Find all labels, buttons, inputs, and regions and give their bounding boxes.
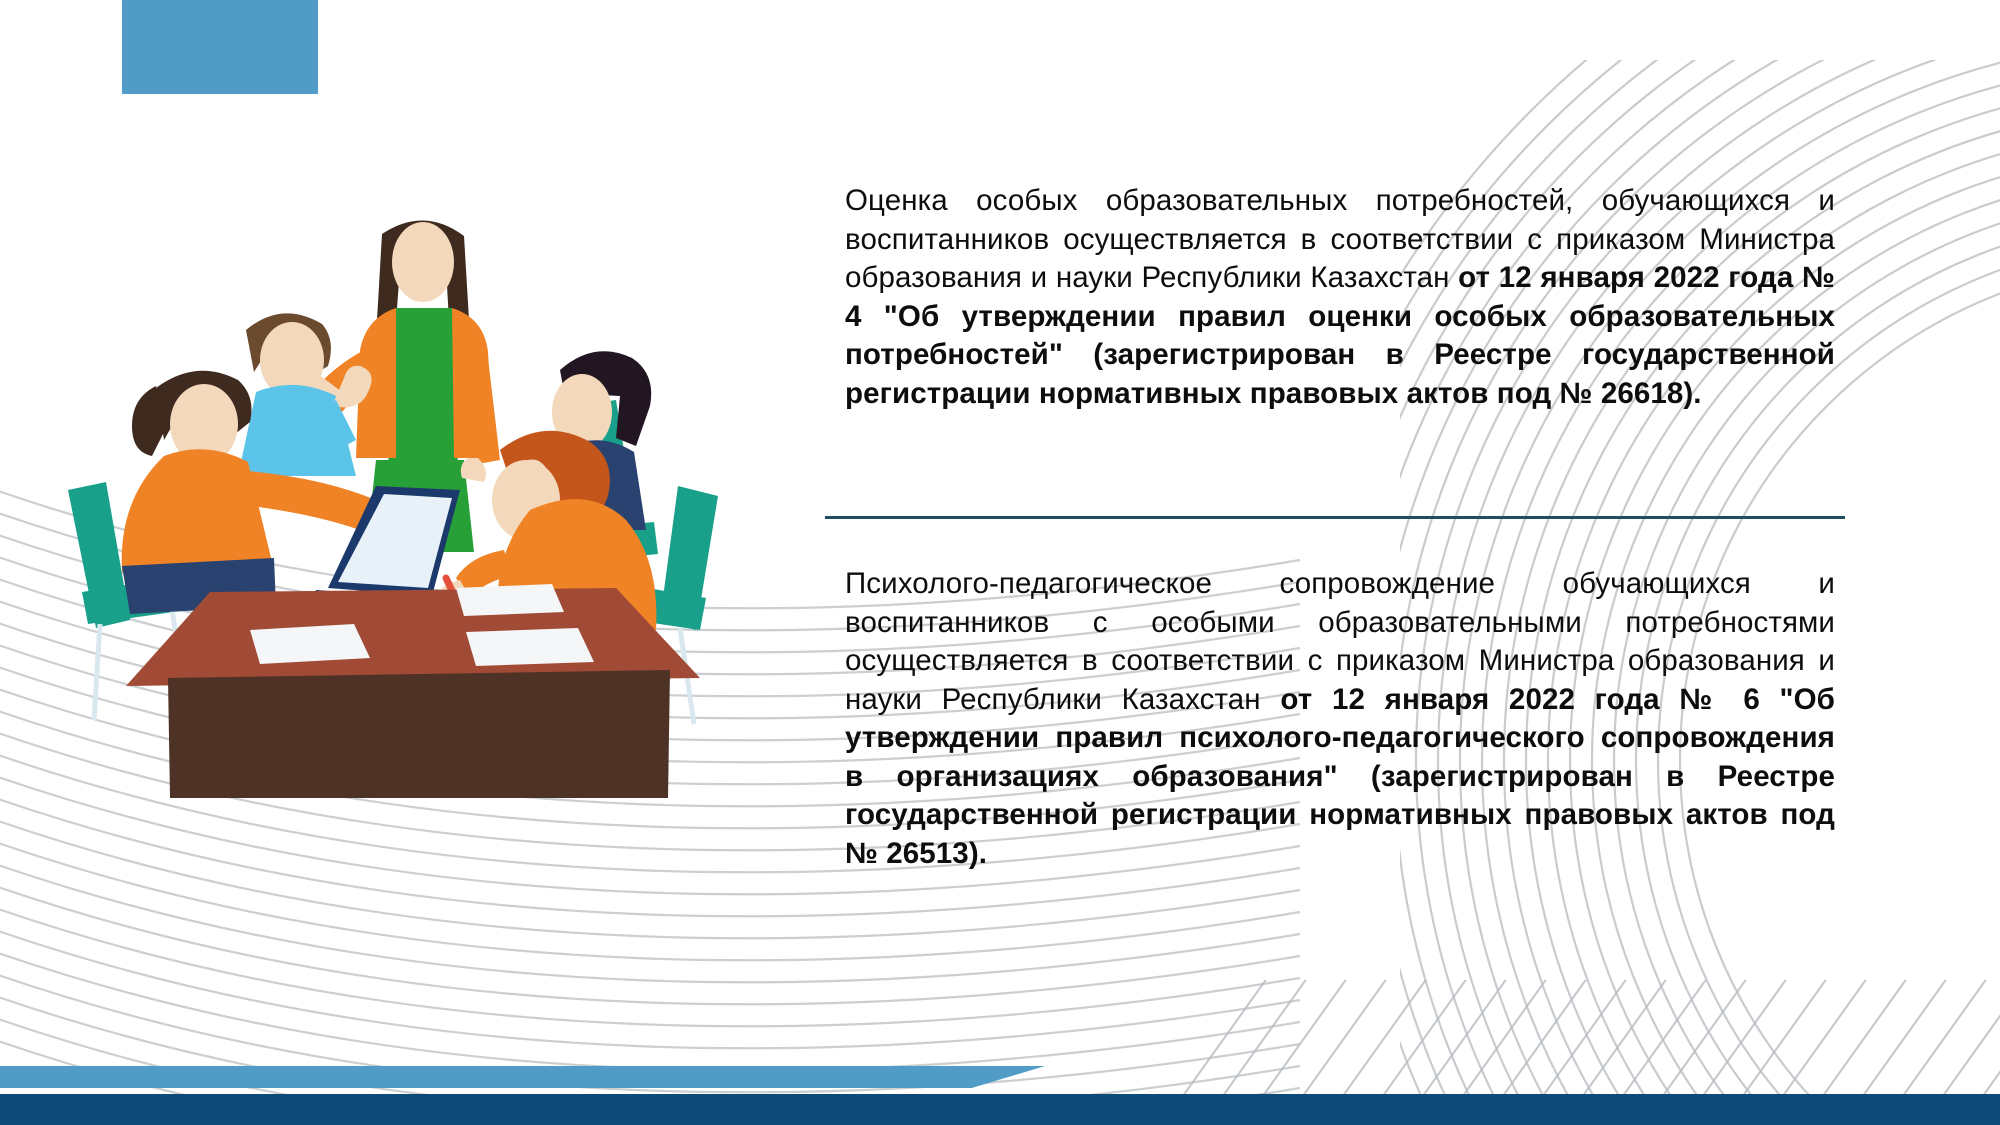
slide-root: Оценка особых образовательных потребност… — [0, 0, 2000, 1125]
paragraph-2-block: Психолого-педагогическое сопровождение о… — [845, 565, 1835, 873]
accent-rectangle — [122, 0, 318, 94]
paragraph-1: Оценка особых образовательных потребност… — [845, 182, 1835, 413]
conference-table — [126, 588, 700, 798]
paper-right-lower — [466, 628, 594, 666]
meeting-illustration — [60, 200, 760, 800]
section-divider — [825, 516, 1845, 519]
paper-right-upper — [456, 584, 564, 616]
paragraph-2: Психолого-педагогическое сопровождение о… — [845, 565, 1835, 873]
arc-pattern-right — [1262, 0, 2000, 1125]
paragraph-1-block: Оценка особых образовательных потребност… — [845, 182, 1835, 413]
paper-left — [250, 624, 370, 664]
bottom-accent-bar-light — [0, 1066, 1045, 1088]
bottom-bar-navy — [0, 1094, 2000, 1125]
person-seated-blue-shirt — [238, 313, 372, 476]
hatch-bottom-right — [1180, 960, 2000, 1100]
